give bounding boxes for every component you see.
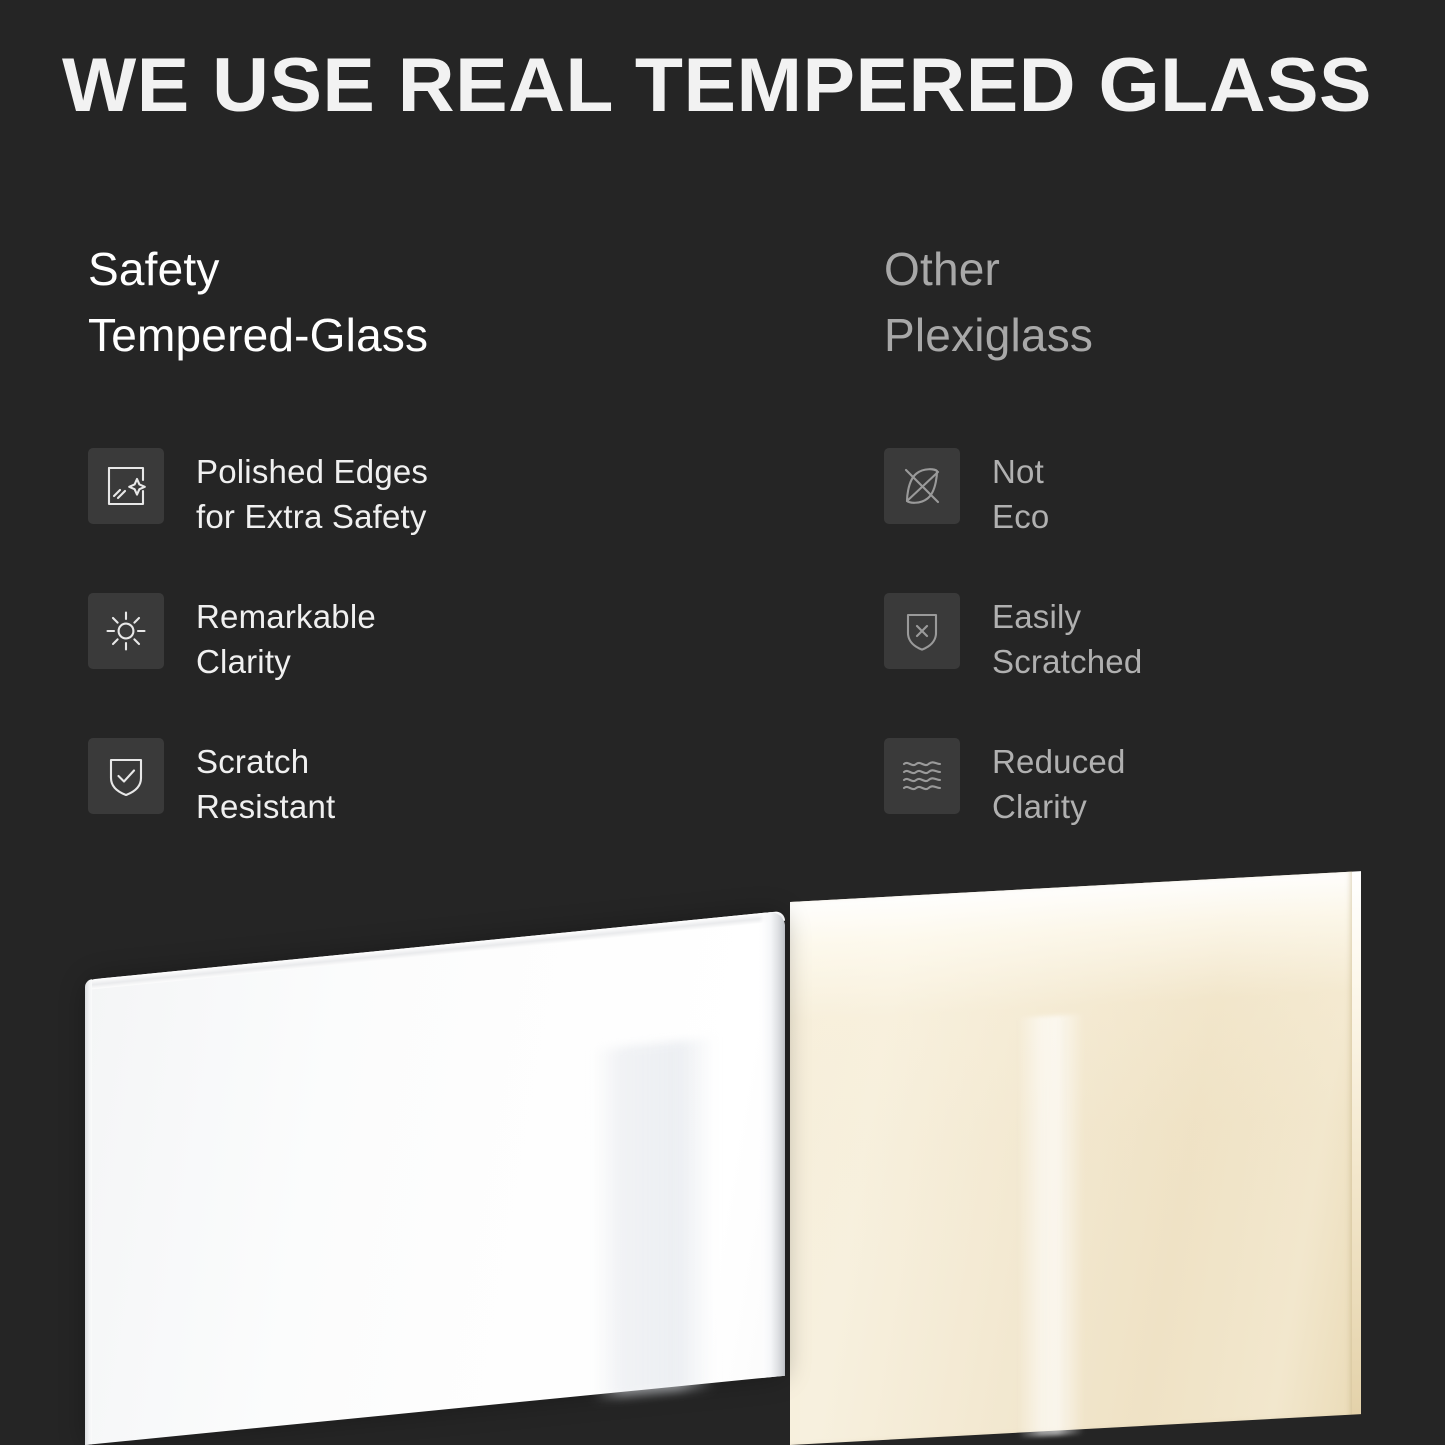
feature-list-left: Polished Edges for Extra Safety Remarkab… <box>88 446 428 881</box>
column-right-title: Other Plexiglass <box>884 236 1424 368</box>
feature-polished-edges: Polished Edges for Extra Safety <box>88 446 428 591</box>
polished-glass-sparkle-icon <box>88 448 164 524</box>
column-left: Safety Tempered-Glass <box>88 236 788 368</box>
feature-not-eco: Not Eco <box>884 446 1142 591</box>
plexiglass-panel <box>790 872 1352 1445</box>
leaf-slash-icon <box>884 448 960 524</box>
feature-easily-scratched: Easily Scratched <box>884 591 1142 736</box>
tempered-glass-panel <box>85 911 785 1445</box>
feature-label: Scratch Resistant <box>196 736 335 829</box>
feature-label: Reduced Clarity <box>992 736 1126 829</box>
tempered-glass-reflection <box>593 1038 715 1400</box>
comparison-infographic: WE USE REAL TEMPERED GLASS Safety Temper… <box>0 0 1445 1445</box>
column-right: Other Plexiglass <box>884 236 1424 368</box>
shield-check-icon <box>88 738 164 814</box>
sun-clarity-icon <box>88 593 164 669</box>
plexiglass-reflection <box>1018 1014 1084 1438</box>
feature-label: Not Eco <box>992 446 1049 539</box>
feature-list-right: Not Eco Easily Scratched <box>884 446 1142 881</box>
tempered-glass-left-edge <box>85 979 92 1445</box>
feature-label: Remarkable Clarity <box>196 591 376 684</box>
wavy-lines-icon <box>884 738 960 814</box>
shield-x-icon <box>884 593 960 669</box>
feature-label: Easily Scratched <box>992 591 1142 684</box>
glass-panels-photo <box>0 840 1445 1445</box>
page-title: WE USE REAL TEMPERED GLASS <box>62 44 1439 128</box>
feature-remarkable-clarity: Remarkable Clarity <box>88 591 428 736</box>
column-left-title: Safety Tempered-Glass <box>88 236 788 368</box>
feature-label: Polished Edges for Extra Safety <box>196 446 428 539</box>
